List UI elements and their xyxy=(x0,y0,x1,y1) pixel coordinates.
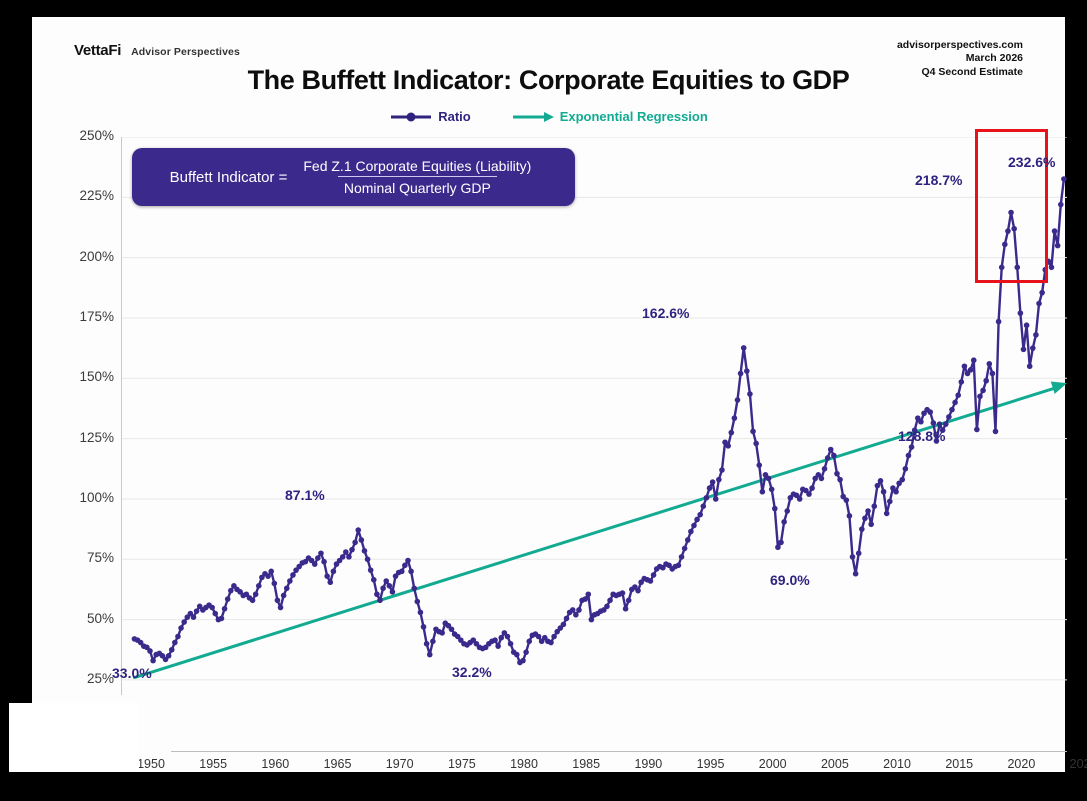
data-point xyxy=(536,634,542,640)
data-point xyxy=(980,388,986,394)
data-point xyxy=(582,596,588,602)
data-point xyxy=(495,643,501,649)
x-axis-tick-label: 2025 xyxy=(1070,757,1087,771)
data-point xyxy=(371,577,377,583)
chart-canvas xyxy=(122,137,1067,692)
legend-item-ratio[interactable]: Ratio xyxy=(389,109,471,124)
data-point xyxy=(380,585,386,591)
data-point xyxy=(775,544,781,550)
y-axis-tick-label: 175% xyxy=(79,309,114,324)
data-point xyxy=(514,652,520,658)
data-point xyxy=(725,443,731,449)
data-point xyxy=(324,573,330,579)
data-point xyxy=(738,371,744,377)
data-point xyxy=(449,626,455,632)
data-point xyxy=(166,653,172,659)
data-point xyxy=(927,409,933,415)
data-point xyxy=(362,548,368,554)
data-point xyxy=(346,554,352,560)
data-point xyxy=(819,476,825,482)
data-point xyxy=(701,503,707,509)
data-point xyxy=(769,487,775,493)
data-point xyxy=(150,658,156,664)
value-annotation: 69.0% xyxy=(770,572,810,588)
x-axis-tick-label: 2005 xyxy=(821,757,849,771)
data-point xyxy=(990,371,996,377)
data-point xyxy=(753,441,759,447)
data-point xyxy=(977,394,983,400)
formula-lhs: Buffett Indicator = xyxy=(170,169,288,186)
data-point xyxy=(408,569,414,575)
value-annotation: 232.6% xyxy=(1008,154,1055,170)
data-point xyxy=(983,378,989,384)
data-point xyxy=(219,616,225,622)
data-point xyxy=(719,467,725,473)
regression-arrowhead xyxy=(1051,381,1067,393)
data-point xyxy=(169,647,175,653)
advisor-perspectives-tagline: Advisor Perspectives xyxy=(131,46,240,58)
data-point xyxy=(822,466,828,472)
data-point xyxy=(747,391,753,397)
data-point xyxy=(340,554,346,560)
data-point xyxy=(585,591,591,597)
data-point xyxy=(728,430,734,436)
value-annotation: 32.2% xyxy=(452,664,492,680)
legend-label-regression: Exponential Regression xyxy=(560,109,708,124)
data-point xyxy=(573,612,579,618)
data-point xyxy=(607,598,613,604)
latest-value-highlight-box xyxy=(975,129,1048,283)
data-point xyxy=(548,640,554,646)
data-point xyxy=(688,529,694,535)
data-point xyxy=(899,477,905,483)
data-point xyxy=(784,508,790,514)
data-point xyxy=(399,569,405,575)
formula-denominator: Nominal Quarterly GDP xyxy=(338,176,497,196)
data-point xyxy=(946,414,952,420)
data-point xyxy=(284,585,290,591)
data-point xyxy=(564,616,570,622)
data-point xyxy=(561,622,567,628)
data-point xyxy=(1052,228,1058,234)
data-point xyxy=(1024,322,1030,328)
data-point xyxy=(508,641,514,647)
y-axis-tick-label: 200% xyxy=(79,249,114,264)
data-point xyxy=(551,634,557,640)
data-point xyxy=(250,598,256,604)
data-point xyxy=(682,546,688,552)
data-point xyxy=(178,625,184,631)
chart-legend: Ratio Exponential Regression xyxy=(32,109,1065,124)
data-point xyxy=(1030,345,1036,351)
data-point xyxy=(781,519,787,525)
x-axis-tick-label: 1965 xyxy=(324,757,352,771)
data-point xyxy=(439,630,445,636)
y-axis-tick-label: 25% xyxy=(87,671,114,686)
data-point xyxy=(570,607,576,613)
x-axis-tick-label: 1950 xyxy=(137,757,165,771)
data-point xyxy=(377,598,383,604)
data-point xyxy=(893,489,899,495)
y-axis-tick-label: 250% xyxy=(79,128,114,143)
x-axis-line xyxy=(171,751,1067,752)
data-point xyxy=(974,427,980,433)
data-point xyxy=(620,590,626,596)
formula-fraction: Fed Z.1 Corporate Equities (Liability) N… xyxy=(297,158,537,196)
data-point xyxy=(993,429,999,435)
chart-title: The Buffett Indicator: Corporate Equitie… xyxy=(32,65,1065,96)
data-point xyxy=(834,471,840,477)
data-point xyxy=(697,512,703,518)
data-point xyxy=(181,619,187,625)
data-point xyxy=(1033,332,1039,338)
data-point xyxy=(778,540,784,546)
data-point xyxy=(1018,310,1024,316)
data-point xyxy=(222,606,228,612)
data-point xyxy=(635,588,641,594)
data-point xyxy=(492,637,498,643)
data-point xyxy=(352,540,358,546)
data-point xyxy=(875,483,881,489)
data-point xyxy=(265,573,271,579)
data-point xyxy=(903,466,909,472)
data-point xyxy=(881,489,887,495)
x-axis-tick-label: 2015 xyxy=(945,757,973,771)
data-point xyxy=(268,569,274,575)
ratio-line xyxy=(134,179,1063,663)
data-point xyxy=(191,614,197,620)
data-point xyxy=(290,572,296,578)
data-point xyxy=(194,608,200,614)
data-point xyxy=(365,556,371,562)
x-axis-tick-label: 2000 xyxy=(759,757,787,771)
source-website: advisorperspectives.com xyxy=(897,39,1023,52)
value-annotation: 218.7% xyxy=(915,172,962,188)
data-point xyxy=(679,554,685,560)
data-point xyxy=(884,511,890,517)
data-point xyxy=(1021,347,1027,353)
data-point xyxy=(943,421,949,427)
x-axis-tick-label: 1995 xyxy=(697,757,725,771)
data-point xyxy=(387,583,393,589)
data-point xyxy=(355,527,361,533)
data-point xyxy=(411,585,417,591)
data-point xyxy=(831,453,837,459)
data-point xyxy=(1058,202,1064,208)
value-annotation: 162.6% xyxy=(642,305,689,321)
data-point xyxy=(871,503,877,509)
data-point xyxy=(374,591,380,597)
x-axis-tick-label: 1955 xyxy=(199,757,227,771)
data-point xyxy=(847,513,853,519)
data-point xyxy=(424,641,430,647)
data-point xyxy=(986,361,992,367)
x-axis-tick-label: 1975 xyxy=(448,757,476,771)
data-point xyxy=(756,462,762,468)
data-point xyxy=(648,578,654,584)
data-point xyxy=(1061,176,1067,182)
value-annotation: 128.8% xyxy=(898,428,945,444)
brand-block: VettaFi Advisor Perspectives xyxy=(74,42,240,59)
y-axis-labels: 250%225%200%175%150%125%100%75%50%25% xyxy=(32,137,114,692)
data-point xyxy=(859,526,865,532)
data-point xyxy=(281,593,287,599)
y-axis-tick-label: 100% xyxy=(79,490,114,505)
data-point xyxy=(405,558,411,564)
data-point xyxy=(651,572,657,578)
chart-card: VettaFi Advisor Perspectives advisorpers… xyxy=(32,17,1065,772)
data-point xyxy=(626,598,632,604)
data-point xyxy=(604,604,610,610)
data-point xyxy=(359,537,365,543)
screenshot-root: VettaFi Advisor Perspectives advisorpers… xyxy=(0,0,1087,801)
x-axis-tick-label: 2010 xyxy=(883,757,911,771)
data-point xyxy=(760,489,766,495)
plot-area xyxy=(122,137,1067,692)
data-point xyxy=(1027,363,1033,369)
data-point xyxy=(498,635,504,641)
data-point xyxy=(349,547,355,553)
data-point xyxy=(589,617,595,623)
data-point xyxy=(321,559,327,565)
data-point xyxy=(806,491,812,497)
data-point xyxy=(955,392,961,398)
data-point xyxy=(505,634,511,640)
data-point xyxy=(327,579,333,585)
data-point xyxy=(744,368,750,374)
data-point xyxy=(931,420,937,426)
data-point xyxy=(906,453,912,459)
y-axis-tick-label: 225% xyxy=(79,188,114,203)
regression-arrow-icon xyxy=(511,110,555,124)
data-point xyxy=(996,319,1002,325)
data-point xyxy=(750,429,756,435)
data-point xyxy=(797,496,803,502)
data-point xyxy=(878,478,884,484)
data-point xyxy=(212,611,218,617)
data-point xyxy=(741,345,747,351)
legend-label-ratio: Ratio xyxy=(438,109,471,124)
data-point xyxy=(809,485,815,491)
data-point xyxy=(837,477,843,483)
data-point xyxy=(949,407,955,413)
data-point xyxy=(887,499,893,505)
data-point xyxy=(228,588,234,594)
data-point xyxy=(868,521,874,527)
data-point xyxy=(732,415,738,421)
data-point xyxy=(853,571,859,577)
data-point xyxy=(275,598,281,604)
data-point xyxy=(766,476,772,482)
x-axis-tick-label: 1980 xyxy=(510,757,538,771)
data-point xyxy=(707,485,713,491)
x-axis-tick-label: 1960 xyxy=(261,757,289,771)
data-point xyxy=(427,652,433,658)
y-axis-tick-label: 50% xyxy=(87,611,114,626)
data-point xyxy=(576,607,582,613)
data-point xyxy=(865,508,871,514)
data-point xyxy=(421,624,427,630)
data-point xyxy=(862,515,868,521)
report-date: March 2026 xyxy=(897,52,1023,65)
ratio-line-marker-icon xyxy=(389,110,433,124)
x-axis-tick-label: 2020 xyxy=(1007,757,1035,771)
data-point xyxy=(676,563,682,569)
y-axis-tick-label: 150% xyxy=(79,369,114,384)
data-point xyxy=(971,357,977,363)
data-point xyxy=(713,496,719,502)
data-point xyxy=(1055,243,1061,249)
data-point xyxy=(331,569,337,575)
y-axis-tick-label: 75% xyxy=(87,550,114,565)
data-point xyxy=(523,649,529,655)
data-point xyxy=(312,561,318,567)
data-point xyxy=(623,606,629,612)
data-point xyxy=(909,444,915,450)
data-point xyxy=(430,639,436,645)
data-point xyxy=(278,605,284,611)
data-point xyxy=(828,447,834,453)
data-point xyxy=(225,596,231,602)
data-point xyxy=(272,581,278,587)
data-point xyxy=(318,550,324,556)
data-point xyxy=(772,506,778,512)
data-point xyxy=(368,567,374,573)
data-point xyxy=(968,367,974,373)
data-point xyxy=(1036,301,1042,307)
data-point xyxy=(315,555,321,561)
data-point xyxy=(390,589,396,595)
data-point xyxy=(735,397,741,403)
data-point xyxy=(710,479,716,485)
value-annotation: 33.0% xyxy=(112,665,152,681)
data-point xyxy=(716,477,722,483)
formula-box: Buffett Indicator = Fed Z.1 Corporate Eq… xyxy=(132,148,575,206)
data-point xyxy=(825,455,831,461)
data-point xyxy=(850,554,856,560)
data-point xyxy=(256,583,262,589)
data-point xyxy=(1049,265,1055,271)
formula-numerator: Fed Z.1 Corporate Equities (Liability) xyxy=(297,158,537,176)
data-point xyxy=(209,605,215,611)
data-point xyxy=(343,549,349,555)
data-point xyxy=(175,634,181,640)
data-point xyxy=(415,599,421,605)
data-point xyxy=(520,658,526,664)
data-point xyxy=(1039,290,1045,296)
data-point xyxy=(253,591,259,597)
data-point xyxy=(918,419,924,425)
data-point xyxy=(383,578,389,584)
data-point xyxy=(685,537,691,543)
frame-bottom-bar xyxy=(0,772,1087,801)
data-point xyxy=(959,379,965,385)
ratio-data-points xyxy=(132,176,1067,665)
data-point xyxy=(952,400,958,406)
x-axis-tick-label: 1970 xyxy=(386,757,414,771)
vettafi-logo: VettaFi xyxy=(74,42,121,59)
y-axis-tick-label: 125% xyxy=(79,430,114,445)
data-point xyxy=(962,363,968,369)
data-point xyxy=(691,523,697,529)
data-point xyxy=(147,648,153,654)
legend-item-regression[interactable]: Exponential Regression xyxy=(511,109,708,124)
data-point xyxy=(937,421,943,427)
data-point xyxy=(856,550,862,556)
data-point xyxy=(694,517,700,523)
x-axis-tick-label: 1985 xyxy=(572,757,600,771)
data-point xyxy=(402,563,408,569)
data-point xyxy=(704,495,710,501)
data-point xyxy=(172,640,178,646)
data-point xyxy=(843,497,849,503)
data-point xyxy=(418,610,424,616)
x-axis-tick-label: 1990 xyxy=(634,757,662,771)
value-annotation: 87.1% xyxy=(285,487,325,503)
data-point xyxy=(526,639,532,645)
data-point xyxy=(287,578,293,584)
